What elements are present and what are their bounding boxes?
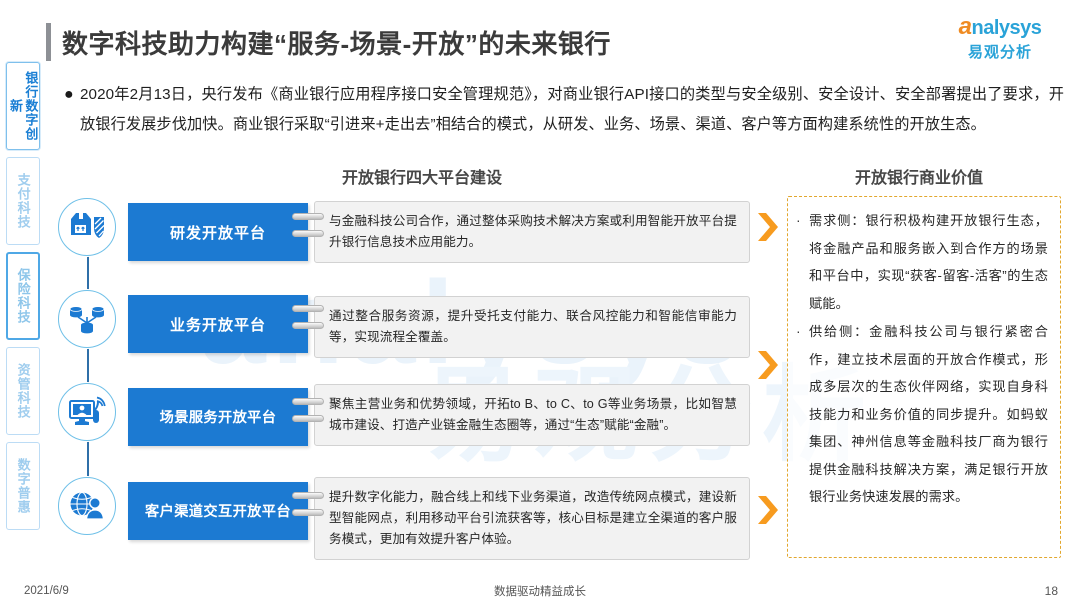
connector-bars-4 xyxy=(292,492,328,528)
sidebar-item-digital-inclusive-finance[interactable]: 数字普惠 xyxy=(6,442,40,530)
bullet-icon: ● xyxy=(64,80,80,140)
platform-box-rd-open[interactable]: 研发开放平台 xyxy=(128,203,308,261)
platform-name: 客户渠道交互开放平台 xyxy=(145,501,291,521)
globe-user-icon xyxy=(58,477,116,535)
platform-desc-rd-open: 与金融科技公司合作，通过整体采购技术解决方案或利用智能开放平台提升银行信息技术应… xyxy=(314,201,750,263)
platform-name: 研发开放平台 xyxy=(170,222,266,243)
sidebar-item-label: 支付科技 xyxy=(15,173,30,229)
title-accent-bar xyxy=(46,23,51,61)
connector-bars-1 xyxy=(292,213,328,249)
sidebar-item-label: 银行数字创新 xyxy=(8,69,39,142)
platform-box-customer-channel-open[interactable]: 客户渠道交互开放平台 xyxy=(128,482,308,540)
value-item-demand-side: · 需求侧：银行积极构建开放银行生态，将金融产品和服务嵌入到合作方的场景和平台中… xyxy=(796,207,1048,317)
heading-four-platforms: 开放银行四大平台建设 xyxy=(342,164,502,188)
value-bullet-icon: · xyxy=(796,318,809,511)
heading-business-value: 开放银行商业价值 xyxy=(855,164,983,188)
logo-word-rest: nalysys xyxy=(971,17,1041,39)
platform-name: 业务开放平台 xyxy=(170,314,266,335)
value-item-text: 需求侧：银行积极构建开放银行生态，将金融产品和服务嵌入到合作方的场景和平台中，实… xyxy=(809,207,1048,317)
chevron-right-icon-2 xyxy=(757,350,783,380)
logo-wordmark: analysys xyxy=(940,14,1060,39)
connector-bars-3 xyxy=(292,398,328,434)
logo-letter-a: a xyxy=(959,13,972,40)
business-value-panel: · 需求侧：银行积极构建开放银行生态，将金融产品和服务嵌入到合作方的场景和平台中… xyxy=(787,196,1061,558)
logo-chinese-name: 易观分析 xyxy=(940,41,1060,62)
footer: 2021/6/9 数据驱动精益成长 18 xyxy=(0,580,1080,602)
sidebar: 银行数字创新 支付科技 保险科技 资管科技 数字普惠 xyxy=(6,62,40,537)
monitor-user-wifi-icon xyxy=(58,383,116,441)
sidebar-item-asset-management-tech[interactable]: 资管科技 xyxy=(6,347,40,435)
intro-text: 2020年2月13日，央行发布《商业银行应用程序接口安全管理规范》，对商业银行A… xyxy=(80,80,1064,140)
sidebar-item-payment-tech[interactable]: 支付科技 xyxy=(6,157,40,245)
sidebar-item-insurance-tech[interactable]: 保险科技 xyxy=(6,252,40,340)
sidebar-item-label: 资管科技 xyxy=(15,363,30,419)
chevron-right-icon-3 xyxy=(757,495,783,525)
footer-page-number: 18 xyxy=(1045,584,1058,598)
footer-tagline: 数据驱动精益成长 xyxy=(0,583,1080,599)
database-network-icon xyxy=(58,290,116,348)
value-item-text: 供给侧：金融科技公司与银行紧密合作，建立技术层面的开放合作模式，形成多层次的生态… xyxy=(809,318,1048,511)
platform-box-business-open[interactable]: 业务开放平台 xyxy=(128,295,308,353)
connector-bars-2 xyxy=(292,305,328,341)
platform-desc-customer-channel-open: 提升数字化能力，融合线上和线下业务渠道，改造传统网点模式，建设新型智能网点，利用… xyxy=(314,477,750,560)
platform-desc-scenario-service-open: 聚焦主营业务和优势领域，开拓to B、to C、to G等业务场景，比如智慧城市… xyxy=(314,384,750,446)
analysys-logo: analysys 易观分析 xyxy=(940,14,1060,62)
sidebar-item-label: 数字普惠 xyxy=(15,458,30,514)
package-shield-icon xyxy=(58,198,116,256)
intro-paragraph: ● 2020年2月13日，央行发布《商业银行应用程序接口安全管理规范》，对商业银… xyxy=(64,80,1064,140)
value-bullet-icon: · xyxy=(796,207,809,317)
sidebar-item-banking-digital-innovation[interactable]: 银行数字创新 xyxy=(6,62,40,150)
page-title: 数字科技助力构建“服务-场景-开放”的未来银行 xyxy=(46,20,611,64)
chevron-right-icon-1 xyxy=(757,212,783,242)
diagram-spine-line xyxy=(87,243,89,505)
platform-desc-business-open: 通过整合服务资源，提升受托支付能力、联合风控能力和智能信审能力等，实现流程全覆盖… xyxy=(314,296,750,358)
sidebar-item-label: 保险科技 xyxy=(15,268,30,324)
title-text: 数字科技助力构建“服务-场景-开放”的未来银行 xyxy=(62,24,611,61)
value-item-supply-side: · 供给侧：金融科技公司与银行紧密合作，建立技术层面的开放合作模式，形成多层次的… xyxy=(796,318,1048,511)
slide-root: analysys 易观分析 数字科技助力构建“服务-场景-开放”的未来银行 an… xyxy=(0,0,1080,608)
platform-name: 场景服务开放平台 xyxy=(160,407,277,427)
platform-box-scenario-service-open[interactable]: 场景服务开放平台 xyxy=(128,388,308,446)
